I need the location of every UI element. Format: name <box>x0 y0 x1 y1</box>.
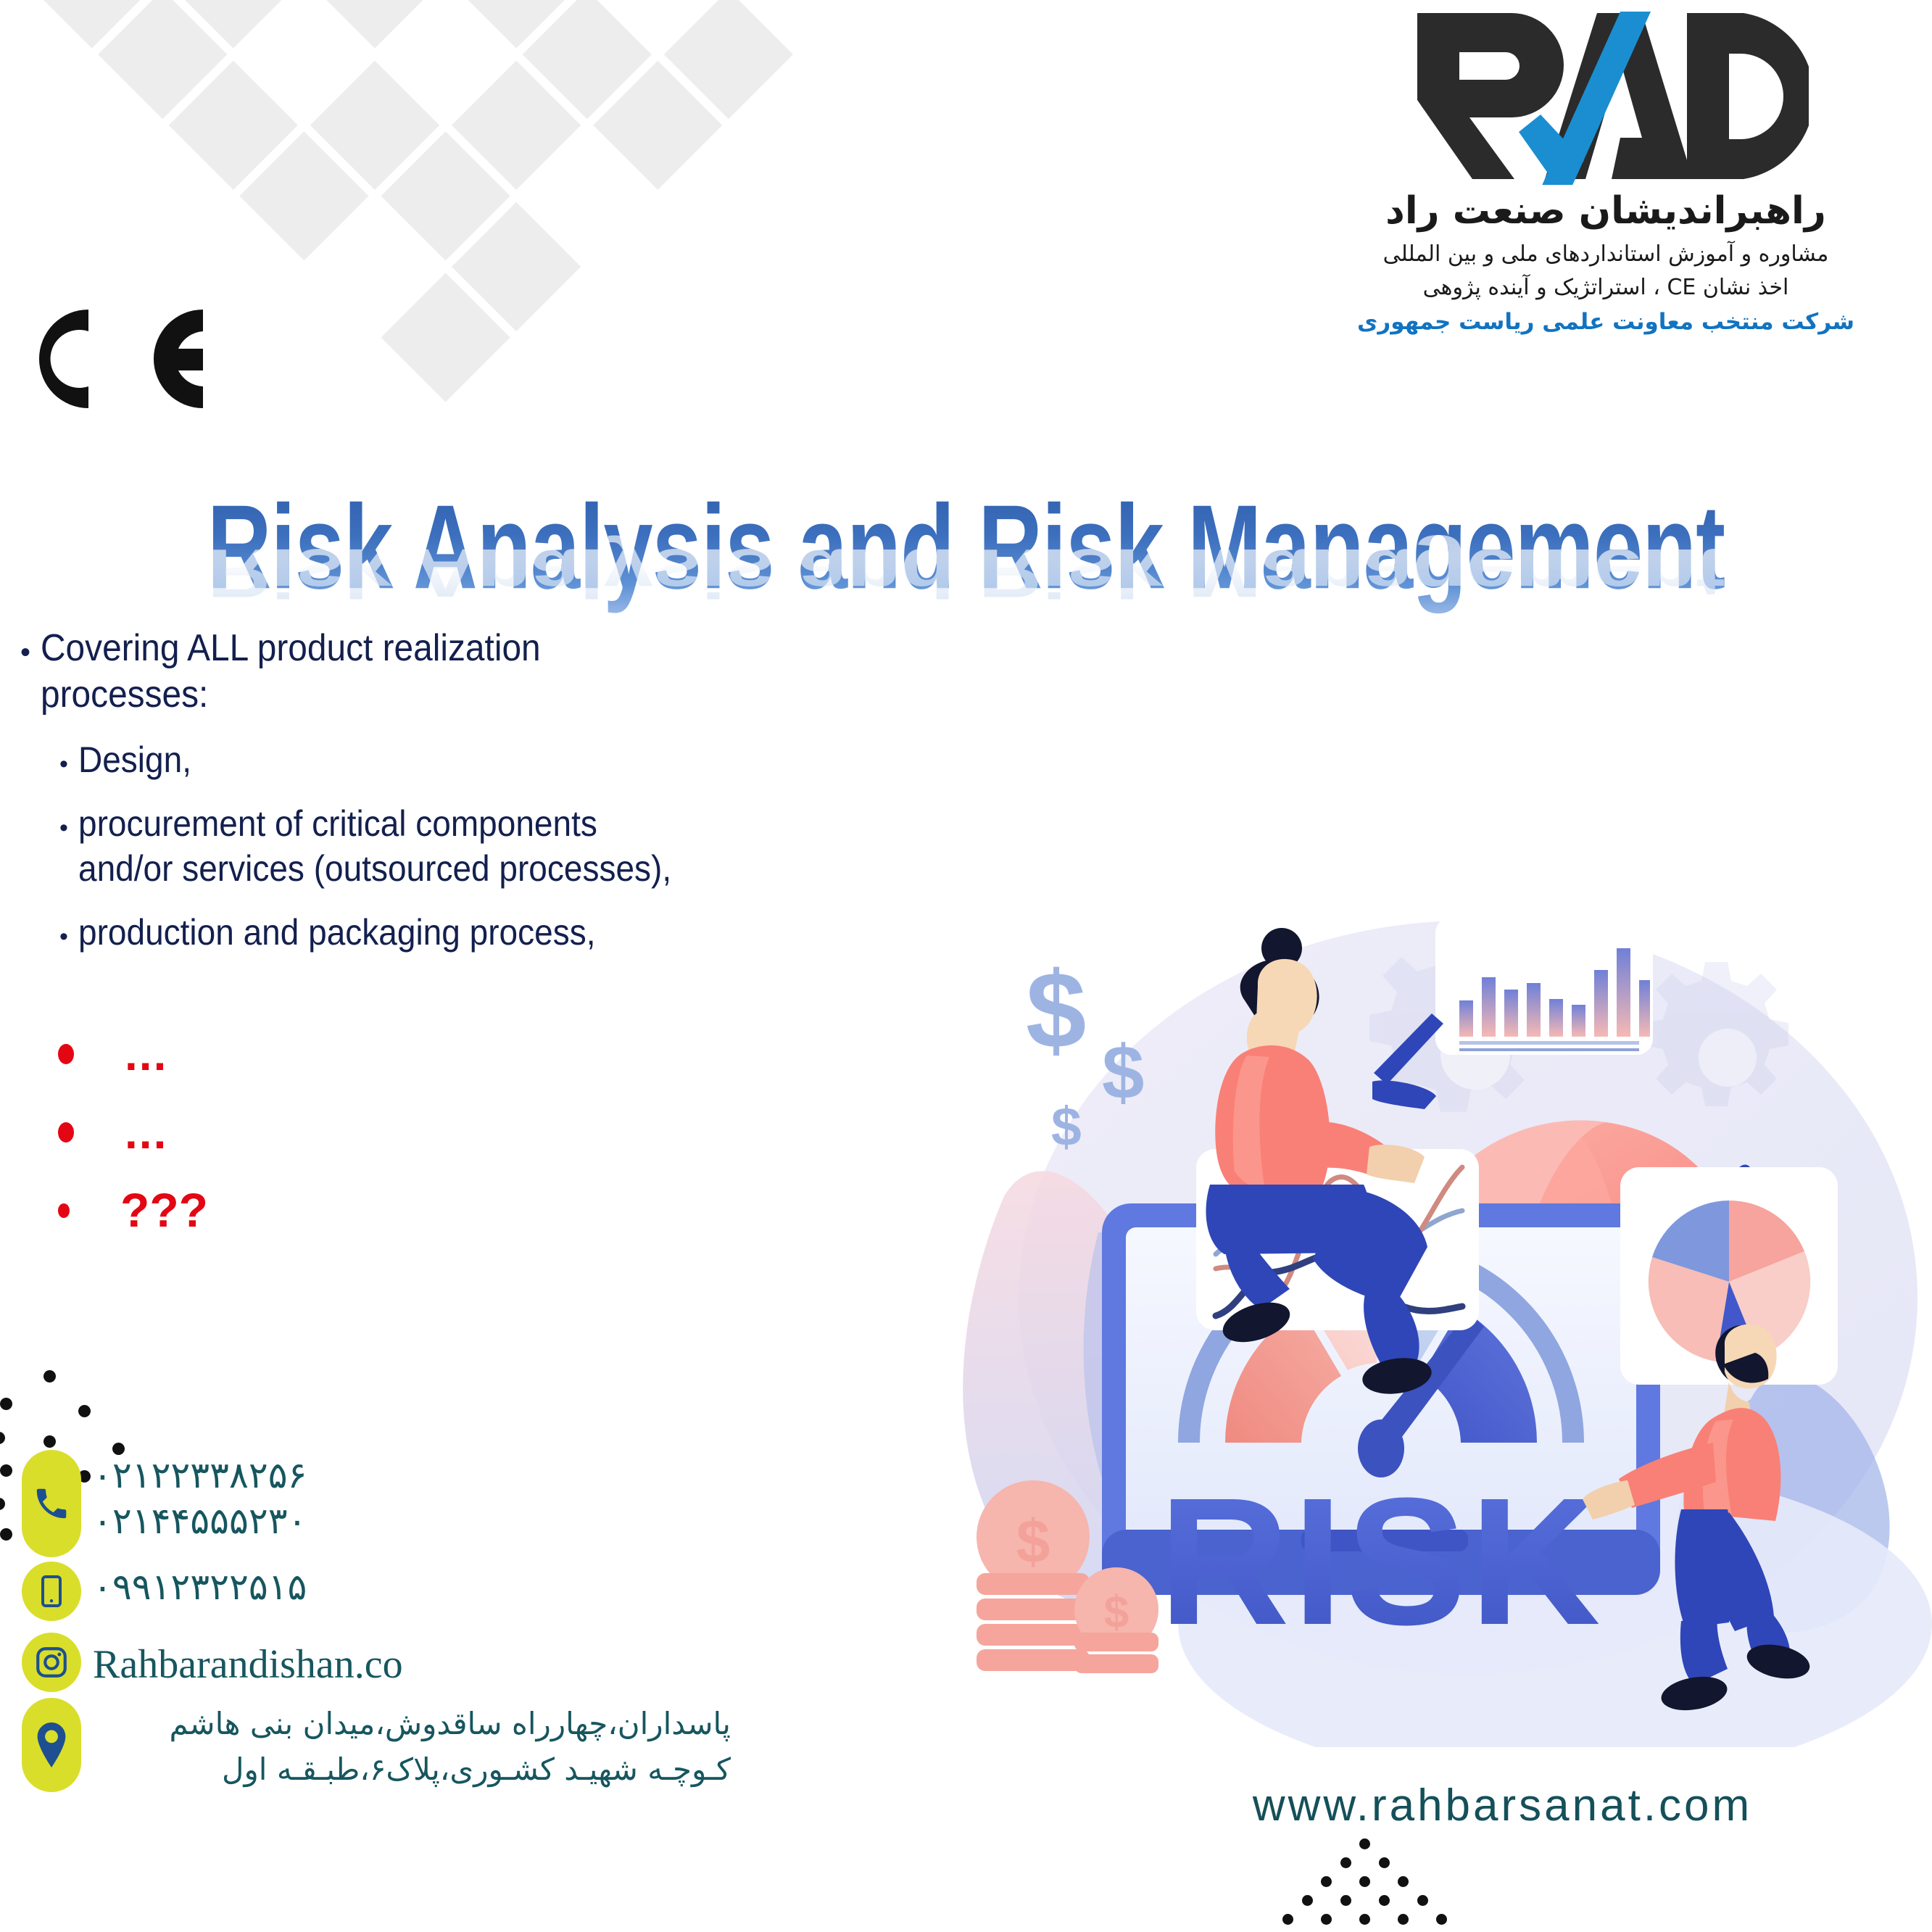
list-item-label: Design, <box>78 737 191 782</box>
svg-text:$: $ <box>1102 1030 1144 1115</box>
bullet-dot-icon: • <box>59 816 68 840</box>
logo-company-name-fa: راهبراندیشان صنعت راد <box>1309 189 1903 233</box>
risk-illustration: $ $ $ RISK <box>917 892 1932 1747</box>
bullet-dot-icon: • <box>59 924 68 949</box>
mobile-number: ۰۹۹۱۲۳۲۲۵۱۵ <box>93 1564 307 1610</box>
logo-accent-line: شرکت منتخب معاونت علمی ریاست جمهوری <box>1309 309 1903 335</box>
list-item-label: Covering ALL product realization process… <box>41 625 541 718</box>
phone-number-1: ۰۲۱۲۲۳۳۸۲۵۶ <box>93 1453 307 1498</box>
decorative-dot-pattern-right <box>1232 1834 1486 1932</box>
page-title: Risk Analysis and Risk Management Risk A… <box>0 478 1932 631</box>
list-item-label: ??? <box>120 1196 208 1225</box>
svg-text:$: $ <box>1026 949 1086 1071</box>
risk-wordmark: RISK <box>1158 1460 1603 1662</box>
bullet-dot-icon: • <box>20 638 30 667</box>
svg-text:$: $ <box>1016 1507 1050 1575</box>
list-item: • Design, <box>14 737 906 782</box>
phone-icon <box>22 1450 81 1557</box>
svg-text:$: $ <box>1104 1588 1129 1638</box>
red-bullet-list: ... ... ??? <box>58 1015 565 1250</box>
list-item-label: ... <box>125 1119 167 1146</box>
list-item: ... <box>58 1015 565 1093</box>
address-line-2: کـوچـه شهیـد کشـوری،پلاک۶،طبـقـه اول <box>93 1746 731 1792</box>
red-bullet-dot-icon <box>58 1203 70 1218</box>
company-logo-block: راهبراندیشان صنعت راد مشاوره و آموزش است… <box>1309 7 1903 335</box>
red-bullet-dot-icon <box>58 1122 74 1143</box>
list-item: ... <box>58 1093 565 1172</box>
bar-chart-card <box>1435 917 1653 1055</box>
logo-tagline-line1: مشاوره و آموزش استانداردهای ملی و بین ال… <box>1309 239 1903 270</box>
address-line-1: پاسداران،چهارراه ساقدوش،میدان بنی هاشم <box>93 1701 731 1746</box>
instagram-handle[interactable]: Rahbarandishan.co <box>93 1635 403 1685</box>
rad-logo-icon <box>1403 7 1809 185</box>
list-item-label: procurement of critical components and/o… <box>78 801 671 891</box>
ce-mark-icon <box>22 301 246 420</box>
bullet-dot-icon: • <box>59 752 68 776</box>
contact-row-mobile: ۰۹۹۱۲۳۲۲۵۱۵ <box>22 1562 783 1621</box>
list-item: • procurement of critical components and… <box>14 801 906 891</box>
contact-row-address: پاسداران،چهارراه ساقدوش،میدان بنی هاشم ک… <box>22 1698 783 1792</box>
logo-tagline-line2: اخذ نشان CE ، استراتژیک و آینده پژوهی <box>1309 272 1903 304</box>
page-title-reflection: Risk Analysis and Risk Management <box>67 534 1864 613</box>
list-item-label: production and packaging process, <box>78 910 595 955</box>
red-bullet-dot-icon <box>58 1044 74 1064</box>
website-url[interactable]: www.rahbarsanat.com <box>1073 1780 1932 1831</box>
mobile-icon <box>22 1562 81 1621</box>
list-item: ??? <box>58 1172 565 1250</box>
instagram-icon[interactable] <box>22 1633 81 1692</box>
location-pin-icon <box>22 1698 81 1792</box>
list-item-label: ... <box>125 1040 167 1068</box>
contact-block: ۰۲۱۲۲۳۳۸۲۵۶ ۰۲۱۴۴۵۵۵۲۳۰ ۰۹۹۱۲۳۲۲۵۱۵ Rahb… <box>22 1450 783 1796</box>
bullet-list: • Covering ALL product realization proce… <box>14 625 906 955</box>
list-item: • production and packaging process, <box>14 910 906 955</box>
svg-text:$: $ <box>1051 1096 1082 1157</box>
phone-number-2: ۰۲۱۴۴۵۵۵۲۳۰ <box>93 1498 307 1544</box>
list-item: • Covering ALL product realization proce… <box>14 625 906 718</box>
contact-row-phone: ۰۲۱۲۲۳۳۸۲۵۶ ۰۲۱۴۴۵۵۵۲۳۰ <box>22 1450 783 1557</box>
contact-row-instagram[interactable]: Rahbarandishan.co <box>22 1633 783 1692</box>
